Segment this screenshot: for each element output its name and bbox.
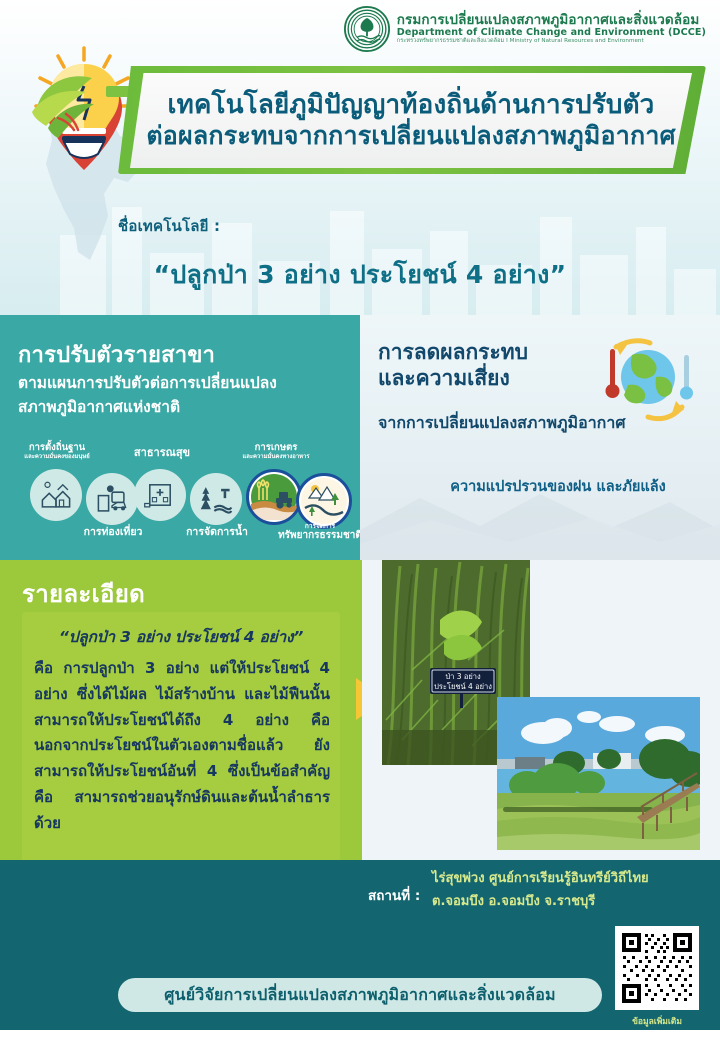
sector-title-resources: ทรัพยากรธรรมชาติ: [262, 530, 360, 541]
sector-caption-resources: การจัดการ ทรัพยากรธรรมชาติ: [262, 523, 360, 541]
globe-thermometer-icon: [590, 333, 706, 425]
details-body-text: คือ การปลูกป่า 3 อย่าง แต่ให้ประโยชน์ 4 …: [34, 656, 330, 837]
natural-resources-mountain-icon[interactable]: [296, 473, 352, 529]
sector-subtitle-settlement: และความมั่นคงของมนุษย์: [2, 454, 112, 461]
details-heading: รายละเอียด: [22, 574, 145, 613]
sector-caption-water: การจัดการน้ำ: [162, 527, 272, 539]
poster-title-line-1: เทคโนโลยีภูมิปัญญาท้องถิ่นด้านการปรับตัว: [168, 90, 655, 121]
details-quote: “ปลูกป่า 3 อย่าง ประโยชน์ 4 อย่าง”: [22, 624, 340, 649]
sector-caption-tourism: การท่องเที่ยว: [58, 527, 168, 539]
location-label: สถานที่ :: [368, 884, 420, 906]
sector-caption-settlement: การตั้งถิ่นฐาน และความมั่นคงของมนุษย์: [2, 443, 112, 460]
sector-title-tourism: การท่องเที่ยว: [58, 527, 168, 539]
sector-subheading-line-2: สภาพภูมิอากาศแห่งชาติ: [18, 395, 348, 419]
water-management-tap-icon[interactable]: [190, 473, 242, 525]
location-line-1: ไร่สุขพ่วง ศูนย์การเรียนรู้อินทรีย์วิถีไ…: [432, 868, 698, 891]
impact-heading-line-2: และความเสี่ยง: [378, 366, 510, 390]
impact-panel-heading: การลดผลกระทบ และความเสี่ยง: [378, 339, 608, 392]
sign-text-line-2: ประโยชน์ 4 อย่าง: [434, 682, 492, 691]
organization-name: ศูนย์วิจัยการเปลี่ยนแปลงสภาพภูมิอากาศและ…: [164, 983, 556, 1008]
location-line-2: ต.จอมบึง อ.จอมบึง จ.ราชบุรี: [432, 891, 698, 914]
tourism-city-bus-icon[interactable]: [86, 473, 138, 525]
sector-panel-subheading: ตามแผนการปรับตัวต่อการเปลี่ยนแปลง สภาพภู…: [18, 371, 348, 419]
technology-label: ชื่อเทคโนโลยี :: [118, 214, 220, 238]
technology-name: “ปลูกป่า 3 อย่าง ประโยชน์ 4 อย่าง”: [0, 255, 720, 295]
settlement-houses-icon[interactable]: [30, 469, 82, 521]
ribbon-inner-panel: เทคโนโลยีภูมิปัญญาท้องถิ่นด้านการปรับตัว…: [130, 73, 692, 168]
qr-code-icon[interactable]: [615, 926, 699, 1010]
impact-heading-line-1: การลดผลกระทบ: [378, 340, 528, 364]
sector-title-health: สาธารณสุข: [112, 447, 212, 459]
public-health-hospital-icon[interactable]: [134, 469, 186, 521]
dcce-seal-icon: [344, 6, 390, 52]
location-value: ไร่สุขพ่วง ศูนย์การเรียนรู้อินทรีย์วิถีไ…: [432, 868, 698, 914]
dcce-logo: กรมการเปลี่ยนแปลงสภาพภูมิอากาศและสิ่งแวด…: [344, 6, 706, 52]
sector-icon-row: การตั้งถิ่นฐาน และความมั่นคงของมนุษย์: [0, 443, 360, 555]
poster-title-line-2: ต่อผลกระทบจากการเปลี่ยนแปลงสภาพภูมิอากาศ: [146, 121, 675, 151]
bottom-white-rule: [0, 1030, 720, 1040]
logo-english-name: Department of Climate Change and Environ…: [397, 28, 706, 38]
hot-thermometer-icon: [606, 349, 620, 398]
farm-landscape-with-bridge-photo[interactable]: [497, 697, 700, 850]
title-ribbon: เทคโนโลยีภูมิปัญญาท้องถิ่นด้านการปรับตัว…: [118, 66, 706, 174]
poster-header: กรมการเปลี่ยนแปลงสภาพภูมิอากาศและสิ่งแวด…: [0, 0, 720, 315]
sector-title-water: การจัดการน้ำ: [162, 527, 272, 539]
sector-caption-agriculture: การเกษตร และความมั่นคงทางอาหาร: [218, 443, 334, 460]
sector-subheading-line-1: ตามแผนการปรับตัวต่อการเปลี่ยนแปลง: [18, 371, 348, 395]
agriculture-tractor-icon[interactable]: [246, 469, 302, 525]
sector-panel-heading: การปรับตัวรายสาขา: [18, 337, 215, 372]
sign-text-line-1: ป่า 3 อย่าง: [445, 672, 481, 681]
sector-title-agriculture: การเกษตร: [218, 443, 334, 454]
impact-risk-text: ความแปรปรวนของฝน และภัยแล้ง: [408, 475, 708, 498]
qr-caption: ข้อมูลเพิ่มเติม: [608, 1014, 706, 1028]
organization-badge: ศูนย์วิจัยการเปลี่ยนแปลงสภาพภูมิอากาศและ…: [118, 978, 602, 1012]
sector-subtitle-agriculture: และความมั่นคงทางอาหาร: [218, 454, 334, 461]
photo-gallery: ป่า 3 อย่าง ประโยชน์ 4 อย่าง: [362, 560, 720, 860]
cold-thermometer-icon: [680, 355, 693, 400]
logo-ministry-line: กระทรวงทรัพยากรธรรมชาติและสิ่งแวดล้อม I …: [397, 39, 706, 45]
poster-root: กรมการเปลี่ยนแปลงสภาพภูมิอากาศและสิ่งแวด…: [0, 0, 720, 1040]
impact-reduction-panel: การลดผลกระทบ และความเสี่ยง จากการเปลี่ยน…: [360, 315, 720, 560]
sector-caption-health: สาธารณสุข: [112, 447, 212, 459]
sector-adaptation-panel: การปรับตัวรายสาขา ตามแผนการปรับตัวต่อการ…: [0, 315, 360, 560]
sector-title-settlement: การตั้งถิ่นฐาน: [2, 443, 112, 454]
logo-thai-name: กรมการเปลี่ยนแปลงสภาพภูมิอากาศและสิ่งแวด…: [397, 13, 706, 27]
